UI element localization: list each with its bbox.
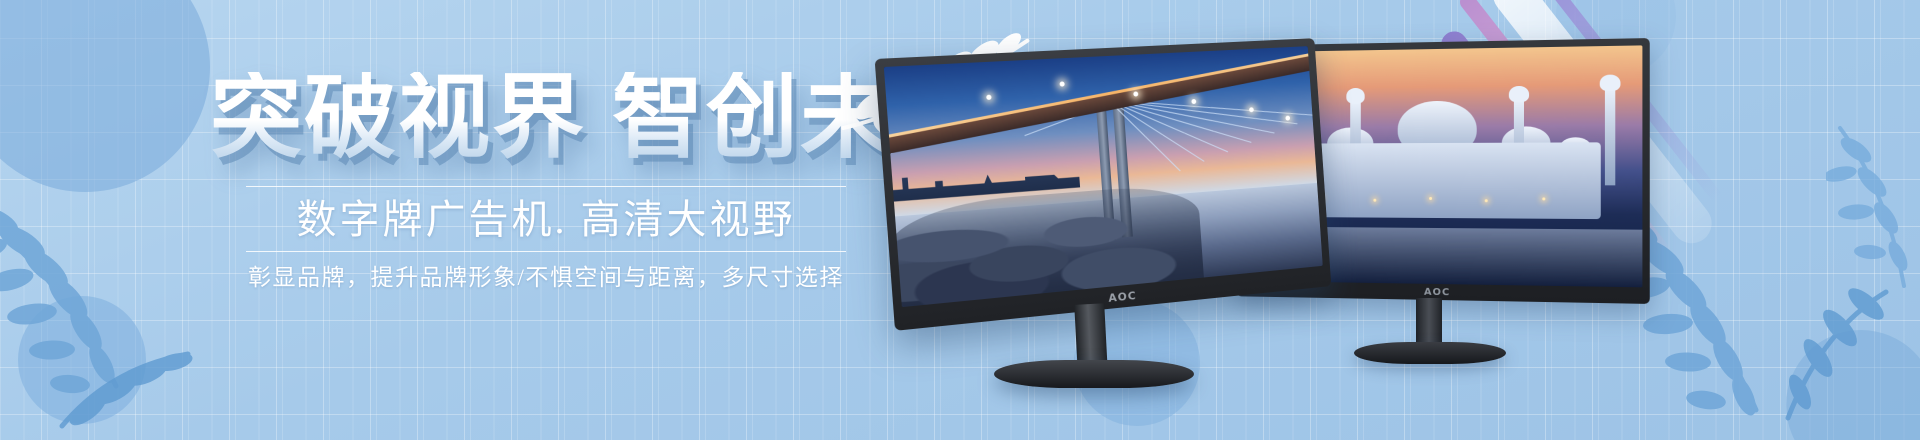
- monitor-stand-base-back: [1354, 342, 1506, 364]
- monitor-screen-front: [884, 46, 1323, 307]
- monitor-stand-base-front: [994, 360, 1194, 388]
- subtitle-group: 数字牌广告机. 高清大视野: [246, 186, 846, 252]
- product-monitor-front: AOC: [890, 48, 1370, 396]
- monitor-bezel-front: AOC: [875, 38, 1332, 331]
- divider-top: [246, 186, 846, 187]
- monitor-stand-neck-back: [1416, 298, 1442, 348]
- headline-block: 突破视界智创未来 数字牌广告机. 高清大视野 彰显品牌，提升品牌形象/不惧空间与…: [0, 0, 900, 440]
- divider-bottom: [246, 251, 846, 252]
- page-title: 突破视界智创未来: [210, 72, 988, 164]
- tagline: 彰显品牌，提升品牌形象/不惧空间与距离，多尺寸选择: [206, 258, 886, 292]
- subtitle: 数字牌广告机. 高清大视野: [246, 197, 846, 243]
- circle-bottom-right-decor: [1786, 330, 1920, 440]
- headline-part-1: 突破视界: [210, 64, 586, 171]
- aoc-logo-back: AOC: [1424, 287, 1450, 298]
- promo-banner: 突破视界智创未来 数字牌广告机. 高清大视野 彰显品牌，提升品牌形象/不惧空间与…: [0, 0, 1920, 440]
- blue-leaf-right-edge-decor: [1826, 120, 1920, 300]
- aoc-logo-front: AOC: [1108, 289, 1137, 305]
